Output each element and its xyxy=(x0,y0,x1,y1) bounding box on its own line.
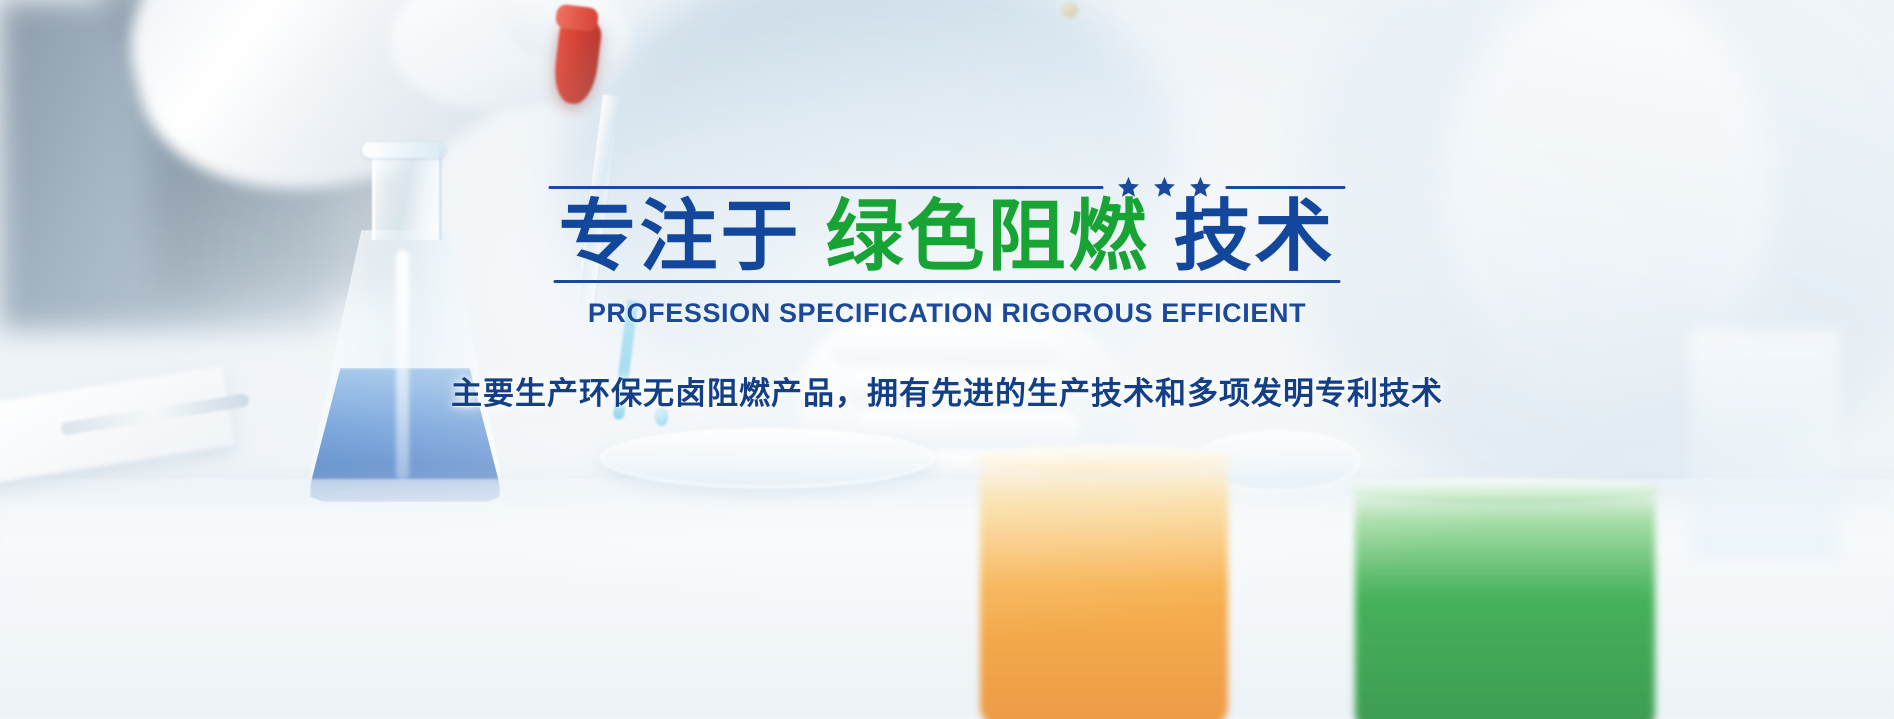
banner-subtitle: PROFESSION SPECIFICATION RIGOROUS EFFICI… xyxy=(588,298,1306,329)
headline-part-2: 绿色阻燃 xyxy=(825,192,1149,282)
banner-content: 专注于绿色阻燃技术 PROFESSION SPECIFICATION RIGOR… xyxy=(0,0,1894,719)
headline-part-1: 专注于 xyxy=(558,192,801,282)
headline-underline-rule xyxy=(553,280,1340,283)
divider-rule-left xyxy=(548,186,1103,189)
banner-tagline: 主要生产环保无卤阻燃产品，拥有先进的生产技术和多项发明专利技术 xyxy=(451,368,1443,413)
star-icon xyxy=(1154,176,1176,198)
headline-part-3: 技术 xyxy=(1174,192,1336,282)
banner-headline: 专注于绿色阻燃技术 xyxy=(558,198,1335,276)
divider-rule-right xyxy=(1226,186,1346,189)
banner-stage: 专注于绿色阻燃技术 PROFESSION SPECIFICATION RIGOR… xyxy=(0,0,1894,719)
